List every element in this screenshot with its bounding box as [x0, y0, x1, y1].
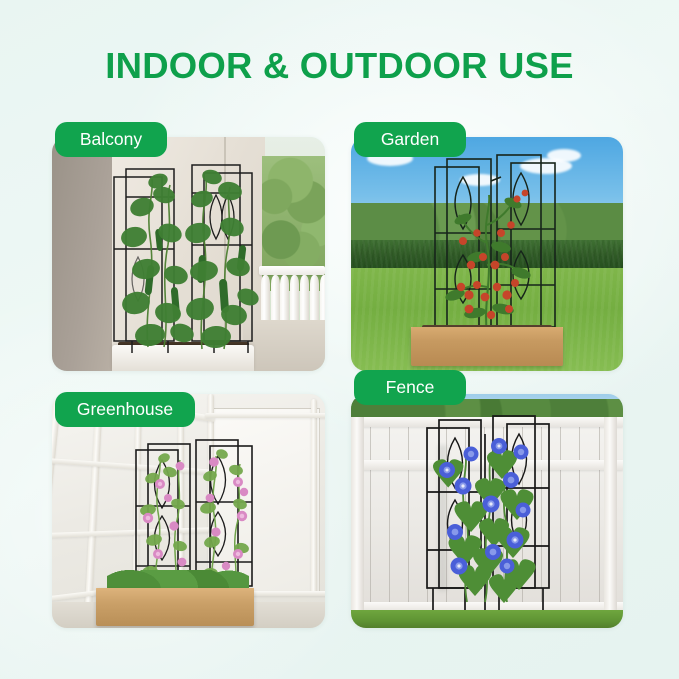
page-title: INDOOR & OUTDOOR USE [0, 44, 679, 88]
product-feature-graphic: INDOOR & OUTDOOR USE [0, 0, 679, 679]
fence-scene-image [351, 394, 623, 628]
badge-greenhouse: Greenhouse [55, 392, 195, 427]
panel-fence[interactable] [351, 394, 623, 628]
balcony-scene-image [52, 137, 325, 371]
badge-fence: Fence [354, 370, 466, 405]
panel-greenhouse[interactable] [52, 394, 325, 628]
fence-trellis-and-morning-glory [351, 394, 623, 628]
greenhouse-scene-image [52, 394, 325, 628]
garden-scene-image [351, 137, 623, 371]
greenhouse-planter-box [96, 588, 254, 625]
fence-grass-strip [351, 610, 623, 628]
badge-garden: Garden [354, 122, 466, 157]
panel-balcony[interactable] [52, 137, 325, 371]
garden-raised-bed [411, 327, 563, 367]
balcony-trellis-and-vines [52, 137, 325, 371]
badge-balcony: Balcony [55, 122, 167, 157]
panel-garden[interactable] [351, 137, 623, 371]
